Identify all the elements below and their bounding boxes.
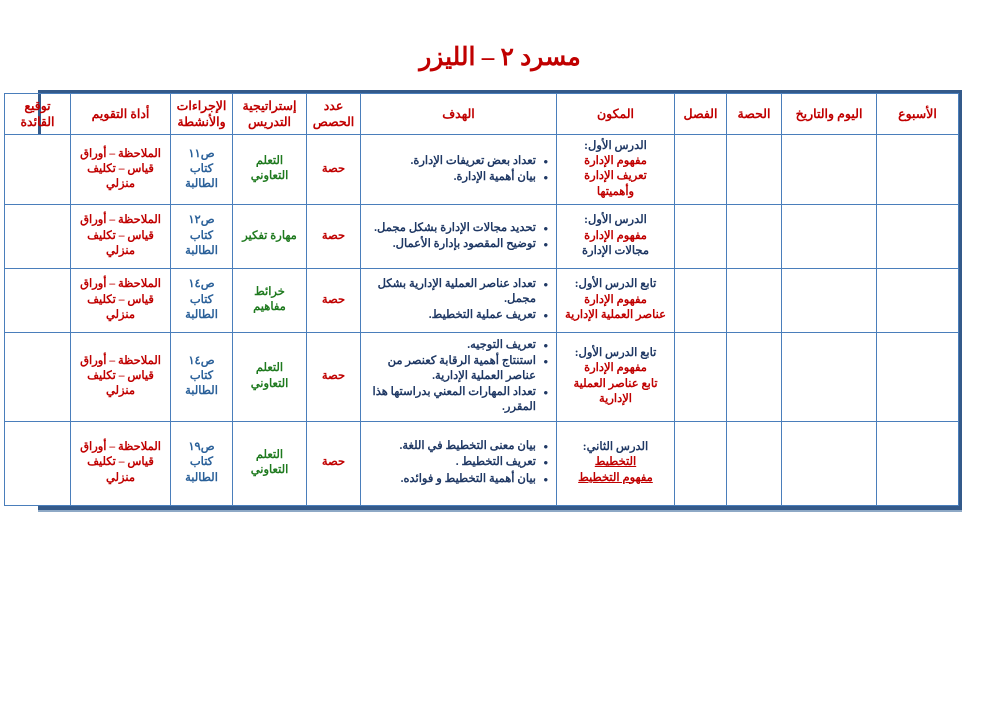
- strategy-line: التعلم: [238, 154, 301, 169]
- cell-procedures: ص١١كتابالطالبة: [171, 135, 233, 205]
- cell-assessment-tool: الملاحظة – أوراق قياس – تكليف منزلي: [71, 421, 171, 505]
- cell-class[interactable]: [675, 332, 727, 421]
- strategy-line: التعلم: [238, 448, 301, 463]
- cell-class[interactable]: [675, 421, 727, 505]
- goal-item: تعريف عملية التخطيط.: [366, 308, 536, 323]
- cell-strategy: التعلمالتعاوني: [233, 135, 307, 205]
- procedures-header-line-1: الإجراءات: [177, 99, 227, 113]
- component-topic: مفهوم الإدارة: [562, 154, 669, 169]
- goal-list: تحديد مجالات الإدارة بشكل مجمل.توضيح الم…: [366, 221, 551, 252]
- cell-component: الدرس الأول:مفهوم الإدارةمجالات الإدارة: [557, 204, 675, 268]
- cell-procedures: ص١٩كتابالطالبة: [171, 421, 233, 505]
- procedures-line: الطالبة: [176, 384, 227, 399]
- sessions-count-line-1: عدد: [324, 99, 344, 113]
- strategy-header-line-1: إستراتيجية: [243, 99, 297, 113]
- cell-day-date[interactable]: [782, 204, 877, 268]
- cell-week[interactable]: [877, 332, 959, 421]
- strategy-header-line-2: التدريس: [248, 115, 291, 129]
- cell-period[interactable]: [727, 332, 782, 421]
- component-lesson-label: تابع الدرس الأول:: [562, 346, 669, 361]
- cell-class[interactable]: [675, 135, 727, 205]
- component-lesson-label: الدرس الأول:: [562, 139, 669, 154]
- strategy-line: مهارة تفكير: [238, 229, 301, 244]
- procedures-line: ص١٢: [176, 213, 227, 228]
- cell-leader-signature[interactable]: [5, 332, 71, 421]
- table-row: الدرس الأول:مفهوم الإدارةمجالات الإدارةت…: [5, 204, 959, 268]
- lesson-plan-table-container: الأسبوع اليوم والتاريخ الحصة الفصل المكو…: [38, 90, 962, 510]
- cell-leader-signature[interactable]: [5, 268, 71, 332]
- column-header-signature: توقيع القائدة: [5, 94, 71, 135]
- procedures-line: الطالبة: [176, 308, 227, 323]
- goal-list: تعريف التوجيه.استنتاج أهمية الرقابة كعنص…: [366, 338, 551, 416]
- cell-assessment-tool: الملاحظة – أوراق قياس – تكليف منزلي: [71, 204, 171, 268]
- cell-assessment-tool: الملاحظة – أوراق قياس – تكليف منزلي: [71, 268, 171, 332]
- cell-leader-signature[interactable]: [5, 135, 71, 205]
- cell-goal: تحديد مجالات الإدارة بشكل مجمل.توضيح الم…: [361, 204, 557, 268]
- strategy-line: التعاوني: [238, 463, 301, 478]
- cell-period[interactable]: [727, 204, 782, 268]
- strategy-line: التعلم: [238, 361, 301, 376]
- goal-list: تعداد بعض تعريفات الإدارة.بيان أهمية الإ…: [366, 154, 551, 185]
- strategy-line: خرائط مفاهيم: [238, 285, 301, 315]
- cell-component: تابع الدرس الأول:مفهوم الإدارةتابع عناصر…: [557, 332, 675, 421]
- procedures-line: كتاب: [176, 162, 227, 177]
- column-header-strategy: إستراتيجية التدريس: [233, 94, 307, 135]
- procedures-line: ص١١: [176, 147, 227, 162]
- procedures-line: ص١٤: [176, 354, 227, 369]
- cell-day-date[interactable]: [782, 332, 877, 421]
- cell-week[interactable]: [877, 268, 959, 332]
- cell-leader-signature[interactable]: [5, 204, 71, 268]
- column-header-day-date: اليوم والتاريخ: [782, 94, 877, 135]
- signature-header-line-1: توقيع: [24, 99, 50, 113]
- procedures-line: كتاب: [176, 229, 227, 244]
- procedures-line: الطالبة: [176, 244, 227, 259]
- page-title: مسرد ٢ – الليزر: [0, 0, 1000, 90]
- cell-class[interactable]: [675, 204, 727, 268]
- column-header-sessions-count: عدد الحصص: [307, 94, 361, 135]
- component-topic: مفهوم الإدارة: [562, 293, 669, 308]
- cell-strategy: مهارة تفكير: [233, 204, 307, 268]
- cell-assessment-tool: الملاحظة – أوراق قياس – تكليف منزلي: [71, 135, 171, 205]
- goal-item: تعريف التخطيط .: [366, 455, 536, 470]
- column-header-period: الحصة: [727, 94, 782, 135]
- cell-sessions-count: حصة: [307, 332, 361, 421]
- column-header-class: الفصل: [675, 94, 727, 135]
- component-topic: مجالات الإدارة: [562, 244, 669, 259]
- component-topic: تعريف الإدارة: [562, 169, 669, 184]
- column-header-component: المكون: [557, 94, 675, 135]
- component-topic: تابع عناصر العملية الإدارية: [562, 377, 669, 407]
- cell-week[interactable]: [877, 204, 959, 268]
- goal-list: تعداد عناصر العملية الإدارية بشكل مجمل.ت…: [366, 277, 551, 324]
- component-topic: عناصر العملية الإدارية: [562, 308, 669, 323]
- procedures-line: الطالبة: [176, 177, 227, 192]
- goal-item: بيان أهمية التخطيط و فوائده.: [366, 472, 536, 487]
- cell-day-date[interactable]: [782, 268, 877, 332]
- procedures-line: ص١٤: [176, 277, 227, 292]
- cell-week[interactable]: [877, 135, 959, 205]
- cell-period[interactable]: [727, 135, 782, 205]
- cell-strategy: التعلمالتعاوني: [233, 421, 307, 505]
- cell-goal: تعداد بعض تعريفات الإدارة.بيان أهمية الإ…: [361, 135, 557, 205]
- procedures-line: ص١٩: [176, 440, 227, 455]
- cell-period[interactable]: [727, 421, 782, 505]
- cell-assessment-tool: الملاحظة – أوراق قياس – تكليف منزلي: [71, 332, 171, 421]
- signature-header-line-2: القائدة: [20, 115, 54, 129]
- column-header-week: الأسبوع: [877, 94, 959, 135]
- component-topic: وأهميتها: [562, 185, 669, 200]
- goal-item: بيان أهمية الإدارة.: [366, 170, 536, 185]
- cell-period[interactable]: [727, 268, 782, 332]
- cell-component: الدرس الأول:مفهوم الإدارةتعريف الإدارةوأ…: [557, 135, 675, 205]
- cell-component: تابع الدرس الأول:مفهوم الإدارةعناصر العم…: [557, 268, 675, 332]
- component-lesson-label: الدرس الثاني:: [562, 440, 669, 455]
- goal-item: بيان معنى التخطيط في اللغة.: [366, 439, 536, 454]
- procedures-line: كتاب: [176, 455, 227, 470]
- component-topic: التخطيط: [562, 455, 669, 470]
- goal-list: بيان معنى التخطيط في اللغة.تعريف التخطيط…: [366, 439, 551, 487]
- sessions-count-line-2: الحصص: [313, 115, 355, 129]
- cell-strategy: التعلمالتعاوني: [233, 332, 307, 421]
- cell-sessions-count: حصة: [307, 204, 361, 268]
- component-lesson-label: تابع الدرس الأول:: [562, 277, 669, 292]
- cell-leader-signature[interactable]: [5, 421, 71, 505]
- cell-goal: بيان معنى التخطيط في اللغة.تعريف التخطيط…: [361, 421, 557, 505]
- goal-item: تعداد المهارات المعني بدراستها هذا المقر…: [366, 385, 536, 415]
- strategy-line: التعاوني: [238, 169, 301, 184]
- cell-week[interactable]: [877, 421, 959, 505]
- component-topic: مفهوم التخطيط: [562, 471, 669, 486]
- goal-item: توضيح المقصود بإدارة الأعمال.: [366, 237, 536, 252]
- column-header-procedures: الإجراءات والأنشطة: [171, 94, 233, 135]
- header-row: الأسبوع اليوم والتاريخ الحصة الفصل المكو…: [5, 94, 959, 135]
- table-row: الدرس الأول:مفهوم الإدارةتعريف الإدارةوأ…: [5, 135, 959, 205]
- cell-component: الدرس الثاني:التخطيطمفهوم التخطيط: [557, 421, 675, 505]
- cell-sessions-count: حصة: [307, 421, 361, 505]
- component-topic: مفهوم الإدارة: [562, 361, 669, 376]
- component-lesson-label: الدرس الأول:: [562, 213, 669, 228]
- component-topic: مفهوم الإدارة: [562, 229, 669, 244]
- strategy-line: التعاوني: [238, 377, 301, 392]
- table-header: الأسبوع اليوم والتاريخ الحصة الفصل المكو…: [5, 94, 959, 135]
- goal-item: تعريف التوجيه.: [366, 338, 536, 353]
- table-row: تابع الدرس الأول:مفهوم الإدارةتابع عناصر…: [5, 332, 959, 421]
- cell-sessions-count: حصة: [307, 268, 361, 332]
- cell-goal: تعداد عناصر العملية الإدارية بشكل مجمل.ت…: [361, 268, 557, 332]
- cell-goal: تعريف التوجيه.استنتاج أهمية الرقابة كعنص…: [361, 332, 557, 421]
- goal-item: تعداد عناصر العملية الإدارية بشكل مجمل.: [366, 277, 536, 307]
- cell-strategy: خرائط مفاهيم: [233, 268, 307, 332]
- procedures-line: كتاب: [176, 293, 227, 308]
- lesson-plan-table: الأسبوع اليوم والتاريخ الحصة الفصل المكو…: [4, 93, 959, 506]
- table-body: الدرس الأول:مفهوم الإدارةتعريف الإدارةوأ…: [5, 135, 959, 506]
- procedures-line: الطالبة: [176, 471, 227, 486]
- cell-sessions-count: حصة: [307, 135, 361, 205]
- cell-day-date[interactable]: [782, 135, 877, 205]
- procedures-header-line-2: والأنشطة: [177, 115, 225, 129]
- page-root: مسرد ٢ – الليزر الأسبوع اليوم والتاريخ ا…: [0, 0, 1000, 707]
- column-header-tool: أداة التقويم: [71, 94, 171, 135]
- goal-item: تحديد مجالات الإدارة بشكل مجمل.: [366, 221, 536, 236]
- table-row: الدرس الثاني:التخطيطمفهوم التخطيطبيان مع…: [5, 421, 959, 505]
- cell-class[interactable]: [675, 268, 727, 332]
- procedures-line: كتاب: [176, 369, 227, 384]
- goal-item: تعداد بعض تعريفات الإدارة.: [366, 154, 536, 169]
- table-row: تابع الدرس الأول:مفهوم الإدارةعناصر العم…: [5, 268, 959, 332]
- cell-day-date[interactable]: [782, 421, 877, 505]
- goal-item: استنتاج أهمية الرقابة كعنصر من عناصر الع…: [366, 354, 536, 384]
- cell-procedures: ص١٤كتابالطالبة: [171, 268, 233, 332]
- cell-procedures: ص١٢كتابالطالبة: [171, 204, 233, 268]
- cell-procedures: ص١٤كتابالطالبة: [171, 332, 233, 421]
- column-header-goal: الهدف: [361, 94, 557, 135]
